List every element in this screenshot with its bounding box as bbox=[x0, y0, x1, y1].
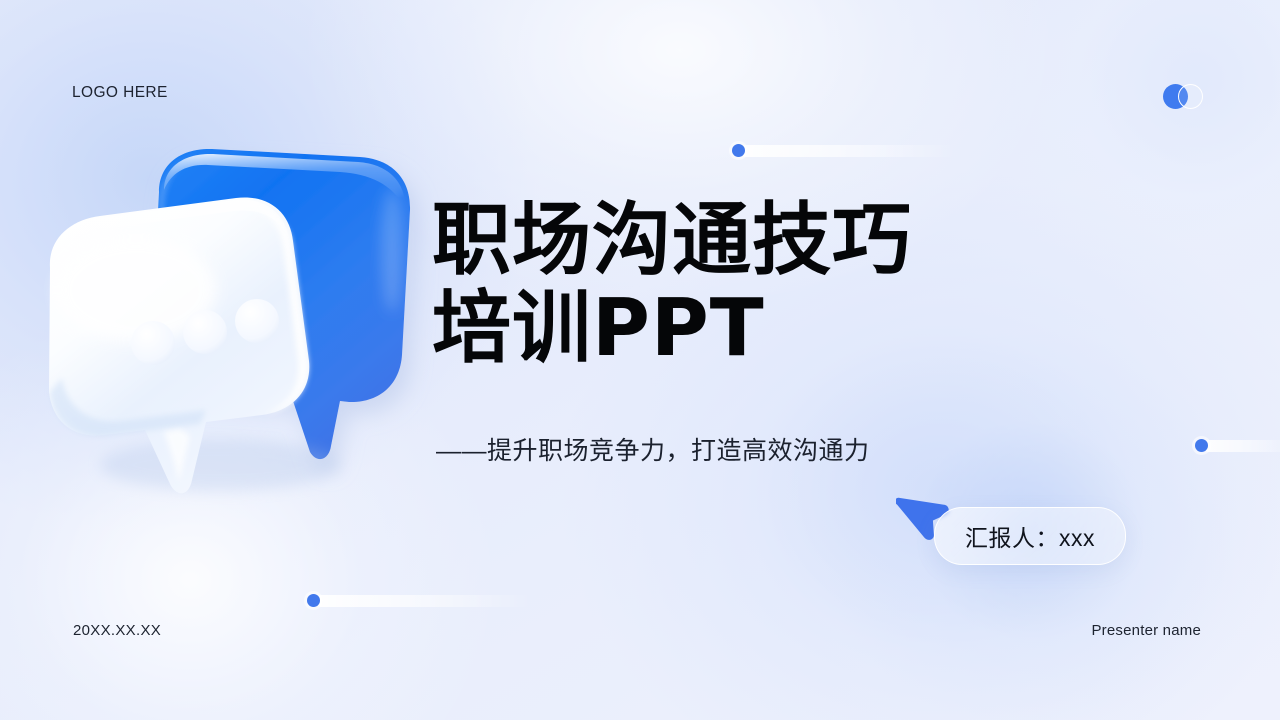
deco-bar-bottom bbox=[307, 594, 531, 607]
presenter-badge-label: 汇报人：xxx bbox=[965, 519, 1095, 553]
page-subtitle: ——提升职场竞争力，打造高效沟通力 bbox=[436, 431, 870, 467]
dot-icon bbox=[1195, 439, 1208, 452]
footer-date: 20XX.XX.XX bbox=[73, 622, 161, 639]
dot-icon bbox=[732, 144, 745, 157]
fading-bar bbox=[1203, 440, 1280, 452]
fading-bar bbox=[315, 595, 531, 607]
logo-placeholder-text: LOGO HERE bbox=[72, 84, 168, 102]
footer-presenter-name: Presenter name bbox=[1091, 622, 1201, 639]
deco-bar-top bbox=[732, 144, 956, 157]
title-line-1: 职场沟通技巧 bbox=[432, 196, 1052, 284]
page-title: 职场沟通技巧 培训PPT bbox=[432, 196, 1052, 373]
deco-bar-right bbox=[1195, 439, 1280, 452]
slide-canvas: LOGO HERE bbox=[0, 0, 1280, 720]
fading-bar bbox=[740, 145, 956, 157]
dot-icon bbox=[307, 594, 320, 607]
presenter-badge[interactable]: 汇报人：xxx bbox=[934, 507, 1126, 565]
chat-bubbles-illustration bbox=[40, 140, 460, 510]
dual-circle-decoration bbox=[1163, 84, 1215, 110]
title-line-2: 培训PPT bbox=[432, 284, 1052, 372]
outline-circle-icon bbox=[1178, 84, 1203, 109]
